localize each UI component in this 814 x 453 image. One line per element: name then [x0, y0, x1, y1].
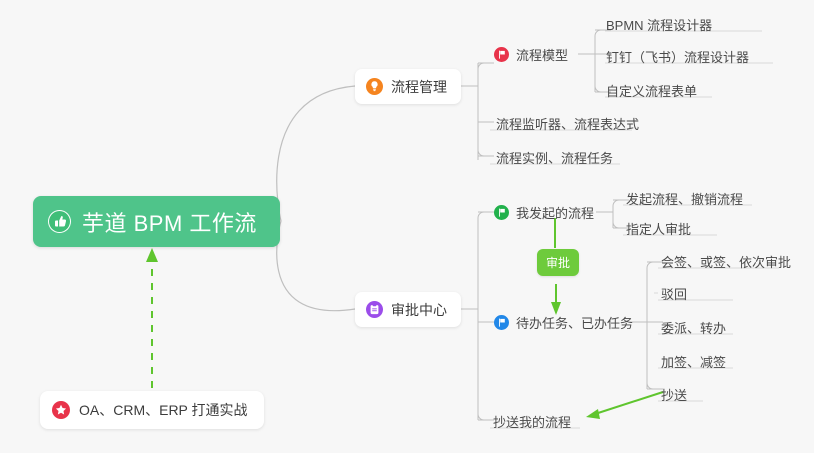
leaf-custom-form[interactable]: 自定义流程表单 — [600, 79, 703, 104]
branch-label: 流程管理 — [391, 77, 447, 97]
branch-approval-center[interactable]: 审批中心 — [355, 292, 461, 327]
clipboard-icon — [366, 301, 383, 318]
leaf-start-cancel-process[interactable]: 发起流程、撤销流程 — [620, 187, 749, 212]
root-label: 芋道 BPM 工作流 — [82, 206, 257, 238]
leaf-dingtalk-designer[interactable]: 钉钉（飞书）流程设计器 — [600, 45, 755, 70]
root-node[interactable]: 芋道 BPM 工作流 — [33, 196, 280, 247]
branch-process-management[interactable]: 流程管理 — [355, 69, 461, 104]
branch-label: 审批中心 — [391, 300, 447, 320]
flag-icon — [494, 205, 509, 220]
leaf-process-listener[interactable]: 流程监听器、流程表达式 — [490, 112, 645, 137]
thumbs-up-icon — [47, 209, 72, 234]
leaf-cc[interactable]: 抄送 — [655, 383, 693, 408]
note-label: OA、CRM、ERP 打通实战 — [79, 400, 248, 420]
flag-icon — [494, 47, 509, 62]
lightbulb-icon — [366, 78, 383, 95]
node-my-initiated[interactable]: 我发起的流程 — [494, 201, 594, 223]
leaf-process-instance[interactable]: 流程实例、流程任务 — [490, 146, 619, 171]
leaf-bpmn-designer[interactable]: BPMN 流程设计器 — [600, 13, 718, 38]
leaf-cc-to-me[interactable]: 抄送我的流程 — [487, 410, 577, 435]
leaf-assignee-approval[interactable]: 指定人审批 — [620, 217, 697, 242]
mindmap-canvas: 芋道 BPM 工作流 流程管理 流程模型 BPMN 流程设计器 钉钉（飞书）流程… — [0, 0, 814, 453]
tag-approval[interactable]: 审批 — [537, 249, 579, 276]
leaf-add-remove-sign[interactable]: 加签、减签 — [655, 350, 732, 375]
node-label: 流程模型 — [516, 45, 568, 64]
leaf-countersign[interactable]: 会签、或签、依次审批 — [655, 250, 797, 275]
leaf-delegate-transfer[interactable]: 委派、转办 — [655, 316, 732, 341]
note-integration[interactable]: OA、CRM、ERP 打通实战 — [40, 391, 264, 429]
leaf-reject[interactable]: 驳回 — [655, 282, 693, 307]
node-process-model[interactable]: 流程模型 — [494, 43, 568, 65]
node-label: 待办任务、已办任务 — [516, 313, 633, 332]
flag-icon — [494, 315, 509, 330]
star-icon — [52, 401, 70, 419]
node-todo-done-tasks[interactable]: 待办任务、已办任务 — [494, 311, 633, 333]
node-label: 我发起的流程 — [516, 203, 594, 222]
